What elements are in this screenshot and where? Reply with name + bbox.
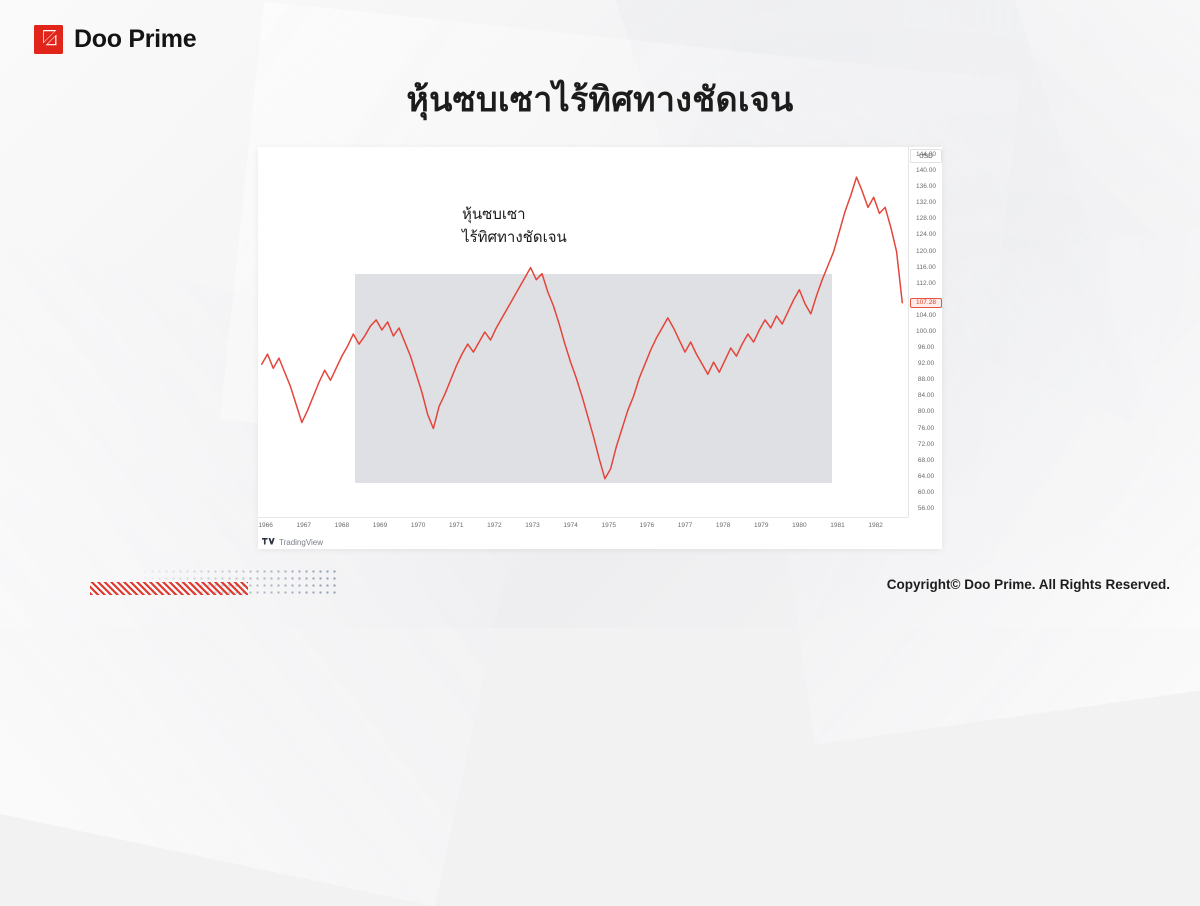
time-tick: 1969	[373, 522, 387, 529]
time-tick: 1966	[258, 522, 272, 529]
price-tick: 100.00	[909, 328, 943, 335]
price-tick: 124.00	[909, 231, 943, 238]
price-scale[interactable]: USD 144.00140.00136.00132.00128.00124.00…	[908, 147, 942, 517]
time-tick: 1972	[487, 522, 501, 529]
price-tick: 140.00	[909, 167, 943, 174]
price-tick: 92.00	[909, 360, 943, 367]
price-tick: 60.00	[909, 489, 943, 496]
time-scale[interactable]: 1966196719681969197019711972197319741975…	[258, 517, 908, 535]
time-tick: 1978	[716, 522, 730, 529]
time-tick: 1973	[525, 522, 539, 529]
price-tick: 96.00	[909, 344, 943, 351]
footer-decoration	[90, 568, 340, 600]
time-tick: 1968	[335, 522, 349, 529]
price-tick: 68.00	[909, 457, 943, 464]
time-tick: 1980	[792, 522, 806, 529]
page-title: หุ้นซบเซาไร้ทิศทางชัดเจน	[0, 72, 1200, 126]
price-tick: 76.00	[909, 425, 943, 432]
time-tick: 1967	[297, 522, 311, 529]
time-tick: 1977	[678, 522, 692, 529]
price-tick: 136.00	[909, 183, 943, 190]
time-tick: 1979	[754, 522, 768, 529]
time-tick: 1982	[868, 522, 882, 529]
time-tick: 1974	[563, 522, 577, 529]
copyright-text: Copyright© Doo Prime. All Rights Reserve…	[887, 577, 1170, 592]
brand-logo: Doo Prime	[34, 25, 196, 54]
chart-annotation-line-2: ไร้ทิศทางชัดเจน	[462, 227, 567, 250]
time-tick: 1981	[830, 522, 844, 529]
price-tick: 116.00	[909, 264, 943, 271]
tradingview-icon	[262, 537, 275, 548]
time-tick: 1976	[640, 522, 654, 529]
price-tick: 120.00	[909, 248, 943, 255]
price-line-series	[258, 147, 908, 517]
price-tick: 88.00	[909, 376, 943, 383]
current-price-badge: 107.28	[910, 298, 942, 308]
chart-annotation-line-1: หุ้นซบเซา	[462, 204, 567, 227]
brand-logo-text: Doo Prime	[74, 27, 196, 52]
tradingview-label: TradingView	[279, 538, 323, 547]
chart-annotation: หุ้นซบเซา ไร้ทิศทางชัดเจน	[462, 204, 567, 249]
doo-prime-flag-icon	[34, 25, 63, 54]
price-tick: 128.00	[909, 215, 943, 222]
time-tick: 1975	[601, 522, 615, 529]
price-tick: 104.00	[909, 312, 943, 319]
time-tick: 1971	[449, 522, 463, 529]
price-tick: 72.00	[909, 441, 943, 448]
chart-plot-area: หุ้นซบเซา ไร้ทิศทางชัดเจน	[258, 147, 908, 517]
price-tick: 144.00	[909, 151, 943, 158]
price-tick: 56.00	[909, 505, 943, 512]
decoration-red-stripe	[90, 582, 248, 595]
time-tick: 1970	[411, 522, 425, 529]
price-tick: 132.00	[909, 199, 943, 206]
price-tick: 64.00	[909, 473, 943, 480]
chart-card: หุ้นซบเซา ไร้ทิศทางชัดเจน USD 144.00140.…	[258, 147, 942, 549]
tradingview-attribution: TradingView	[262, 537, 323, 548]
price-tick: 112.00	[909, 280, 943, 287]
price-tick: 80.00	[909, 408, 943, 415]
price-tick: 84.00	[909, 392, 943, 399]
